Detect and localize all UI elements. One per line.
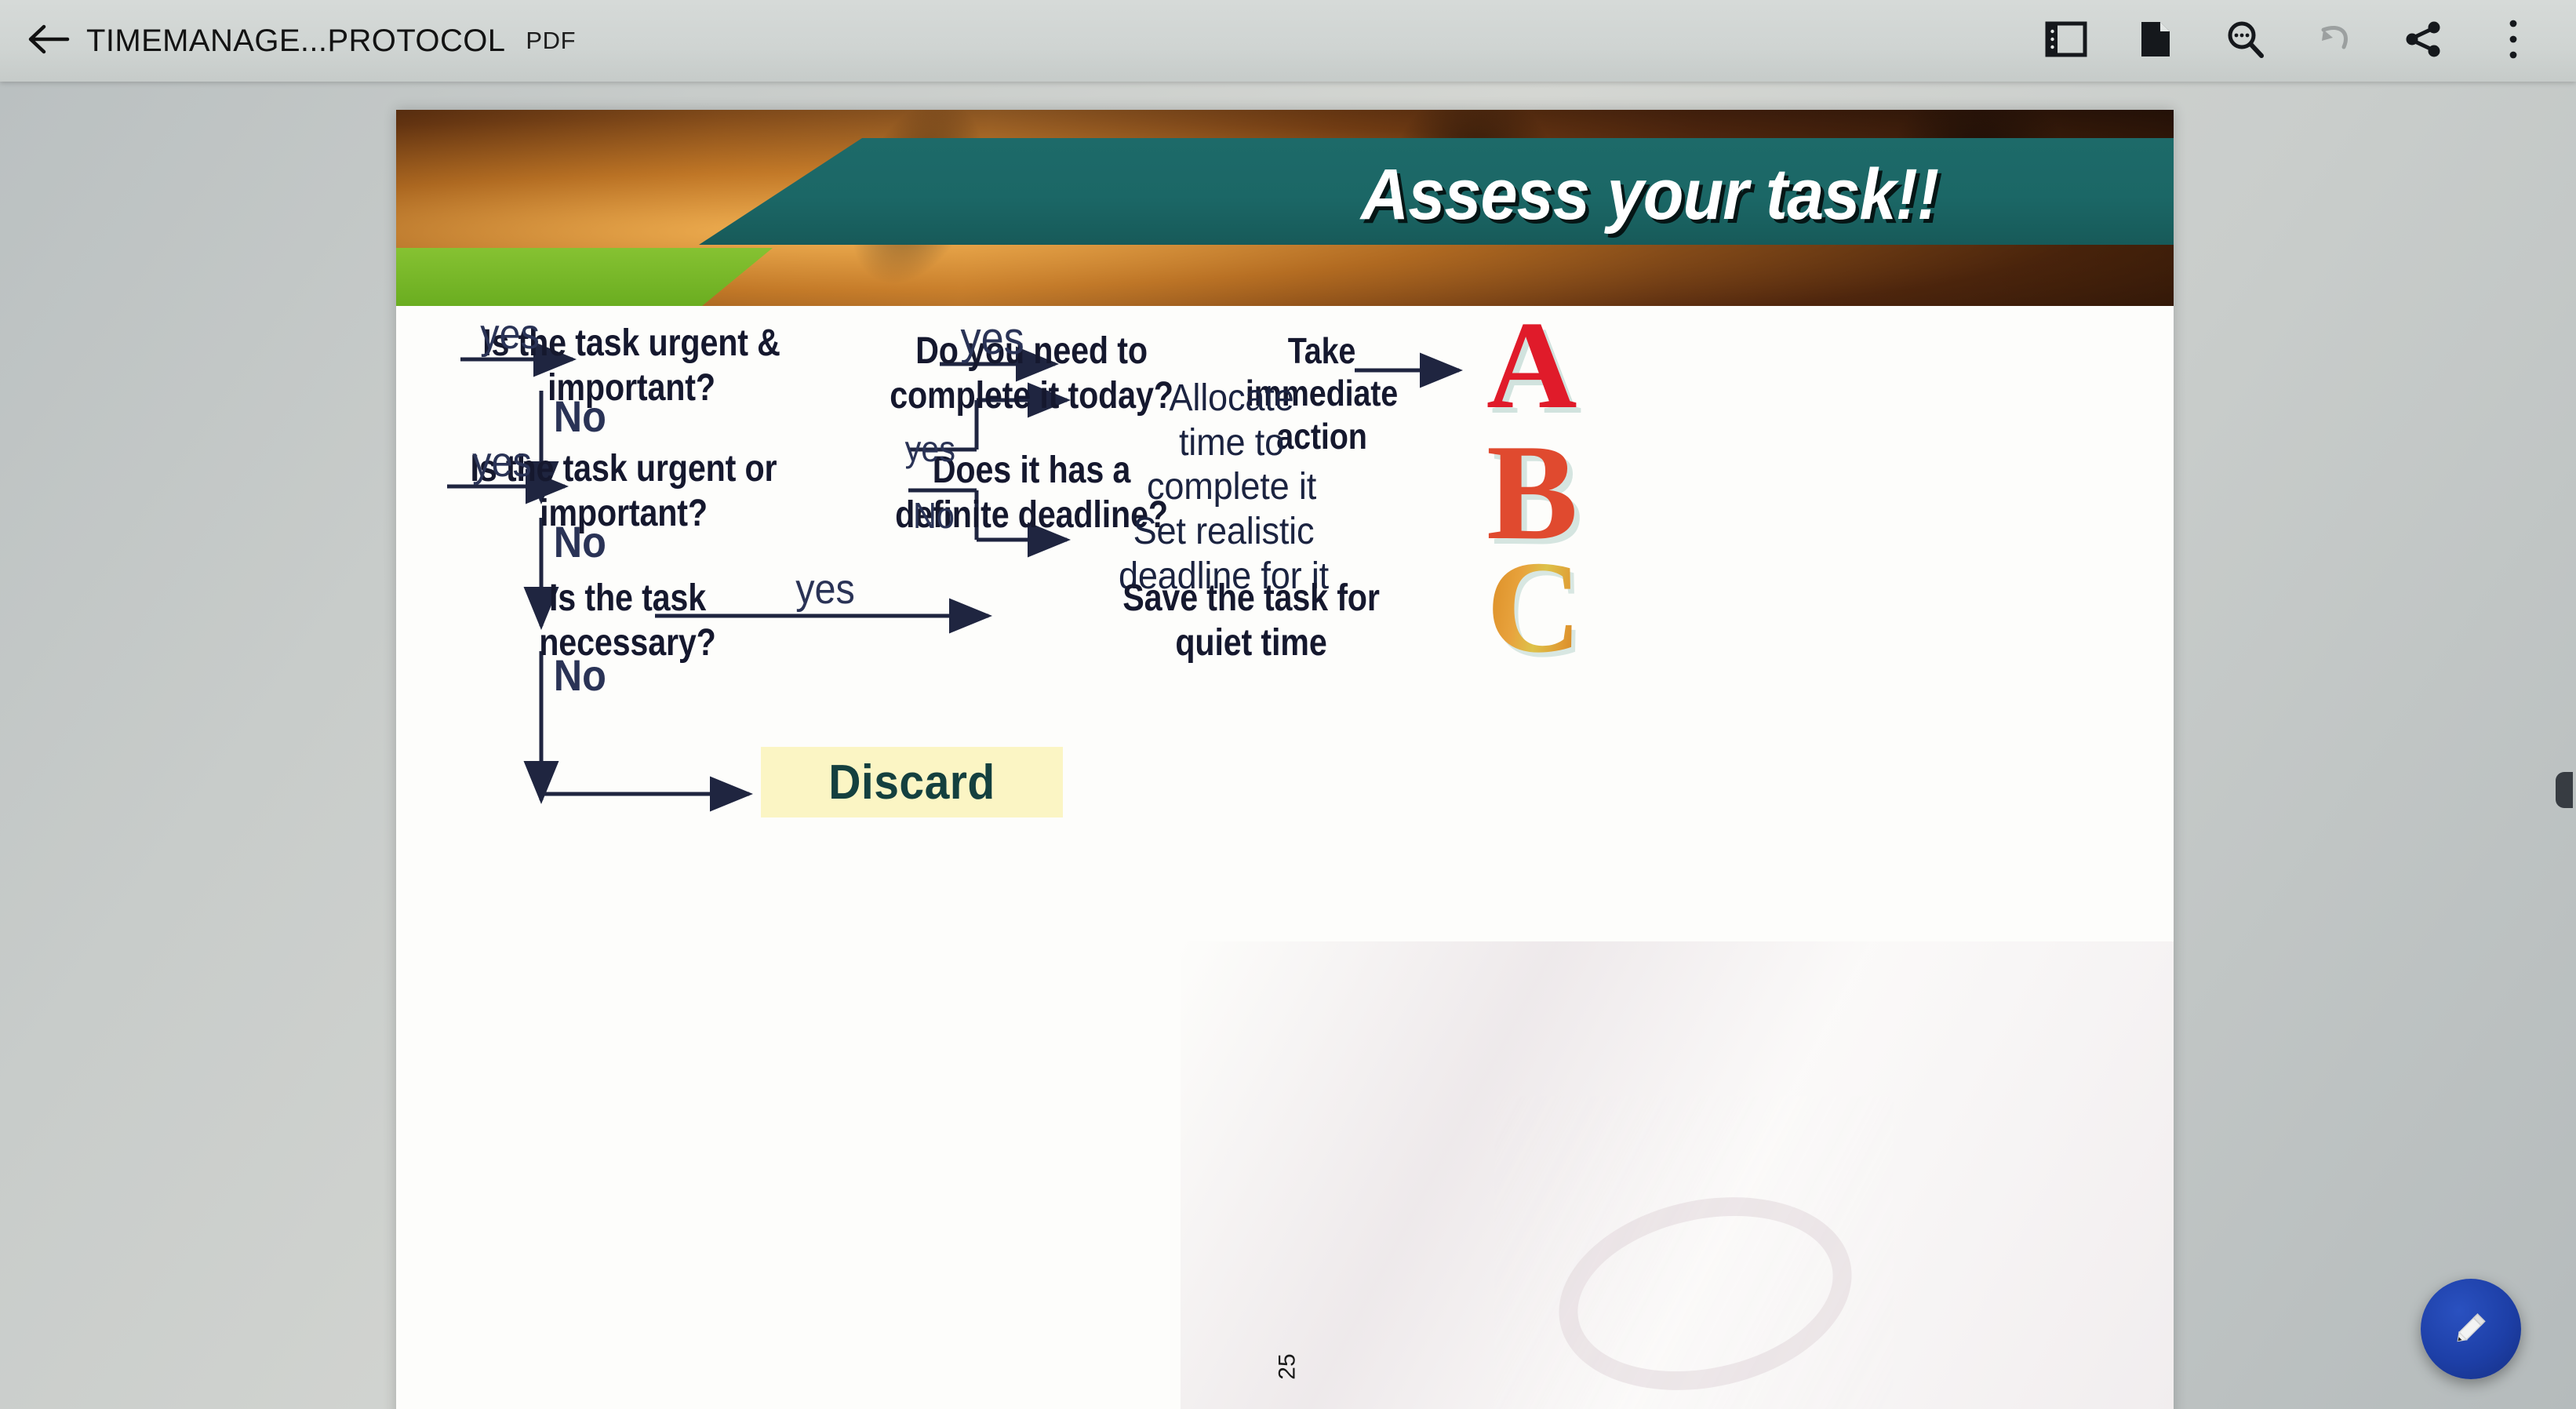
sidebar-panel-icon xyxy=(2045,20,2087,62)
document-page-icon xyxy=(2138,20,2173,63)
back-arrow-icon xyxy=(27,20,71,62)
page-view-button[interactable] xyxy=(2113,0,2198,82)
result-letter-a: A xyxy=(1486,302,1577,428)
decision-flowchart: Is the task urgent & important? Do you n… xyxy=(396,110,2174,1409)
flow-node-allocate-time: Allocate time to complete it xyxy=(1069,377,1394,510)
edge-label-no-3: No xyxy=(554,516,606,567)
more-options-button[interactable] xyxy=(2471,0,2556,82)
edge-label-yes-5: yes xyxy=(795,565,855,613)
edge-label-yes-3: yes xyxy=(472,438,532,486)
discard-label: Discard xyxy=(828,755,995,810)
magnifier-search-icon xyxy=(2225,19,2265,64)
overflow-vertical-dots-icon xyxy=(2505,18,2521,64)
undo-button[interactable] xyxy=(2292,0,2377,82)
pencil-edit-icon xyxy=(2445,1302,2497,1357)
result-letter-c: C xyxy=(1486,541,1581,673)
edge-label-yes-2: yes xyxy=(961,312,1024,365)
flow-node-q3: Is the task necessary? xyxy=(486,577,769,665)
back-button[interactable] xyxy=(11,0,86,82)
pdf-page-viewport[interactable]: Assess your task!! xyxy=(0,82,2576,1409)
flowchart-connectors xyxy=(396,110,2174,1409)
edge-label-yes-4: yes xyxy=(905,428,955,470)
discard-outcome-box: Discard xyxy=(761,747,1063,817)
search-button[interactable] xyxy=(2203,0,2287,82)
share-button[interactable] xyxy=(2381,0,2466,82)
document-kind-label: PDF xyxy=(526,27,576,55)
slide-page-number: 25 xyxy=(1275,1353,1301,1379)
slide-page: Assess your task!! xyxy=(396,110,2174,1409)
vertical-scroll-thumb[interactable] xyxy=(2556,772,2573,808)
thumbnails-panel-button[interactable] xyxy=(2024,0,2108,82)
share-nodes-icon xyxy=(2404,20,2443,63)
app-toolbar: TIMEMANAGE...PROTOCOL PDF xyxy=(0,0,2576,82)
edge-label-no-4: No xyxy=(554,650,606,701)
document-title: TIMEMANAGE...PROTOCOL xyxy=(86,24,505,59)
toolbar-actions xyxy=(2024,0,2576,82)
edit-fab-button[interactable] xyxy=(2421,1279,2521,1379)
undo-arrow-icon xyxy=(2314,20,2355,62)
edge-label-no-2: No xyxy=(913,494,955,537)
flow-node-save-for-quiet-time: Save the task for quiet time xyxy=(1082,577,1420,665)
edge-label-no-1: No xyxy=(554,391,606,442)
edge-label-yes-1: yes xyxy=(480,310,540,359)
